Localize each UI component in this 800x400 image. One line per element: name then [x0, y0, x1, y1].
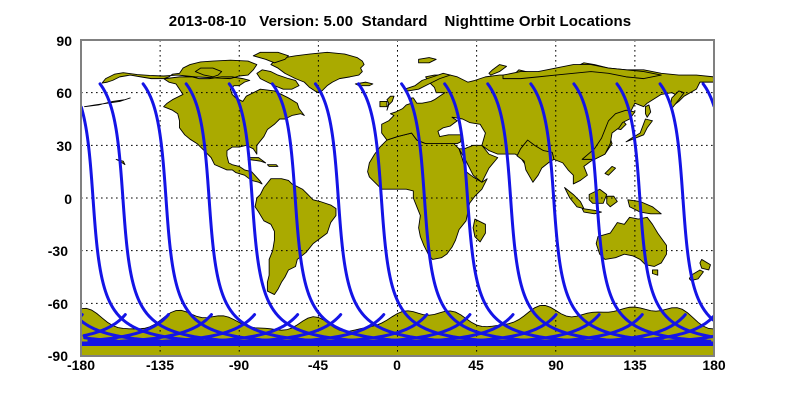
x-tick-label: 45: [446, 357, 506, 373]
y-tick-label: 0: [38, 191, 72, 207]
x-tick-label: -135: [130, 357, 190, 373]
figure-title: 2013-08-10 Version: 5.00 Standard Nightt…: [0, 13, 800, 30]
x-tick-label: 180: [684, 357, 744, 373]
y-tick-label: -60: [34, 296, 68, 312]
y-tick-label: 90: [38, 33, 72, 49]
y-tick-label: 30: [38, 138, 72, 154]
x-tick-label: -90: [209, 357, 269, 373]
x-tick-label: -45: [288, 357, 348, 373]
x-tick-label: 90: [526, 357, 586, 373]
y-tick-label: 60: [38, 85, 72, 101]
x-tick-label: -180: [51, 357, 111, 373]
x-tick-label: 0: [367, 357, 427, 373]
landmass-hispaniola: [267, 165, 278, 167]
orbit-map-figure: 2013-08-10 Version: 5.00 Standard Nightt…: [0, 0, 800, 400]
map-plot-area: [0, 0, 800, 400]
landmass-ireland: [380, 101, 387, 106]
y-tick-label: -30: [34, 243, 68, 259]
x-tick-label: 135: [605, 357, 665, 373]
